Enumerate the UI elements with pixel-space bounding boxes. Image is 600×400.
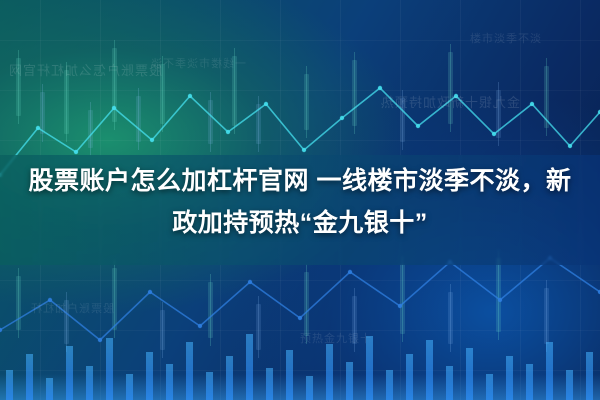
headline-line-2: 政加持预热“金九银十” [14,202,586,244]
trend-point [98,338,102,342]
trend-point [302,148,306,152]
trend-point [348,270,352,274]
trend-point [188,94,192,98]
trend-point [340,116,344,120]
trend-point [416,124,420,128]
trend-point [298,316,302,320]
trend-point [492,132,496,136]
trend-point [148,290,152,294]
trend-point [498,298,502,302]
headline: 股票账户怎么加杠杆官网 一线楼市淡季不淡，新 政加持预热“金九银十” [0,160,600,244]
news-thumbnail-image: 股票账户怎么加杠杆官网一线楼市淡季不淡金九银十新政加持预热楼市淡季不淡股票账户加… [0,0,600,400]
trend-point [74,150,78,154]
trend-point [226,130,230,134]
headline-line-1: 股票账户怎么加杠杆官网 一线楼市淡季不淡，新 [14,160,586,202]
trend-point [248,280,252,284]
trend-point [198,324,202,328]
trend-line [0,258,600,340]
trend-point [530,102,534,106]
trend-point [378,86,382,90]
trend-point [568,144,572,148]
bottom-glow [0,374,600,400]
trend-point [48,298,52,302]
trend-point [264,102,268,106]
trend-point [150,138,154,142]
trend-point [112,106,116,110]
trend-point [398,304,402,308]
trend-point [454,94,458,98]
trend-point [36,126,40,130]
